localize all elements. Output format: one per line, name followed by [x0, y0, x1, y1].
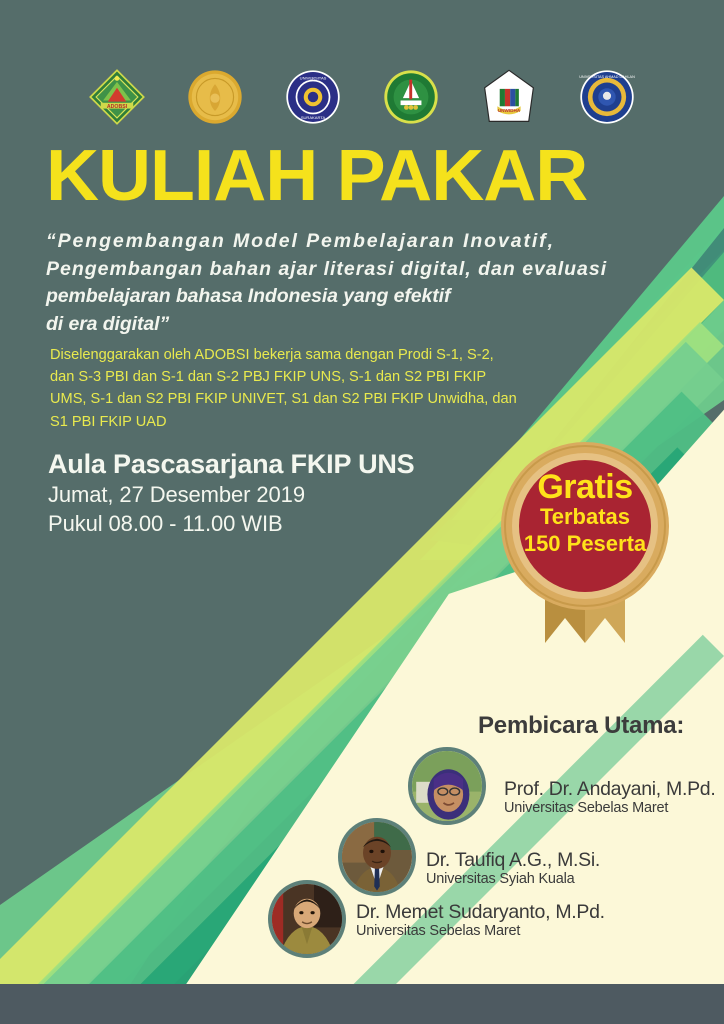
logo-uns — [186, 68, 244, 126]
logo-unwidha: UNWIDHA — [480, 68, 538, 126]
speaker-avatar-memet — [268, 880, 346, 958]
event-date: Jumat, 27 Desember 2019 — [48, 481, 414, 510]
speaker-text: Dr. Memet Sudaryanto, M.Pd. Universitas … — [356, 902, 605, 940]
svg-text:UNIVERSITAS AHMAD DAHLAN: UNIVERSITAS AHMAD DAHLAN — [579, 75, 635, 79]
subtitle-line-4: di era digital” — [46, 311, 646, 339]
subtitle-line-2: Pengembangan bahan ajar literasi digital… — [46, 256, 646, 284]
speaker-affiliation: Universitas Sebelas Maret — [504, 800, 715, 817]
speaker-name: Dr. Memet Sudaryanto, M.Pd. — [356, 902, 605, 923]
subtitle-line-3: pembelajaran bahasa Indonesia yang efekt… — [46, 283, 646, 311]
speaker-avatar-taufiq — [338, 818, 416, 896]
svg-text:UNWIDHA: UNWIDHA — [498, 108, 521, 113]
organizer-text: Diselenggarakan oleh ADOBSI bekerja sama… — [50, 344, 520, 433]
speaker-affiliation: Universitas Syiah Kuala — [426, 871, 600, 888]
footer-bar — [0, 984, 724, 1024]
svg-text:SURAKARTA: SURAKARTA — [301, 115, 326, 120]
speaker-text: Dr. Taufiq A.G., M.Si. Universitas Syiah… — [426, 850, 600, 888]
svg-text:ADOBSI: ADOBSI — [107, 104, 128, 110]
event-venue: Aula Pascasarjana FKIP UNS — [48, 448, 414, 481]
logo-ums: UNIVERSITAS SURAKARTA — [284, 68, 342, 126]
speaker-name: Prof. Dr. Andayani, M.Pd. — [504, 779, 715, 800]
logo-adobsi: ADOBSI — [88, 68, 146, 126]
page-title: KULIAH PAKAR — [46, 143, 587, 209]
event-time: Pukul 08.00 - 11.00 WIB — [48, 510, 414, 539]
speakers-heading: Pembicara Utama: — [478, 712, 684, 740]
subtitle-line-1: “Pengembangan Model Pembelajaran Inovati… — [46, 228, 646, 256]
speaker-affiliation: Universitas Sebelas Maret — [356, 923, 605, 940]
svg-text:UNIVERSITAS: UNIVERSITAS — [300, 76, 327, 81]
poster-canvas: ADOBSI UNIVERSITAS — [0, 0, 724, 1024]
gratis-badge: Gratis Terbatas 150 Peserta — [495, 438, 675, 653]
speaker-avatar-andayani — [408, 747, 486, 825]
poster-subtitle: “Pengembangan Model Pembelajaran Inovati… — [46, 228, 646, 339]
speaker-text: Prof. Dr. Andayani, M.Pd. Universitas Se… — [504, 779, 715, 817]
logo-uad: UNIVERSITAS AHMAD DAHLAN — [578, 68, 636, 126]
speaker-name: Dr. Taufiq A.G., M.Si. — [426, 850, 600, 871]
logo-strip: ADOBSI UNIVERSITAS — [0, 68, 724, 126]
logo-univet — [382, 68, 440, 126]
event-details: Aula Pascasarjana FKIP UNS Jumat, 27 Des… — [48, 448, 414, 538]
